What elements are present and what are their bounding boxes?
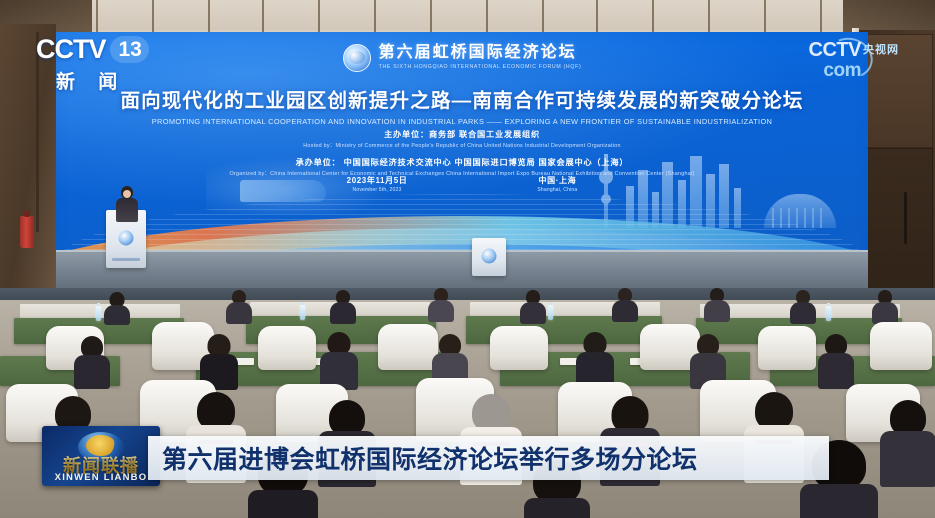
audience-person — [612, 288, 638, 318]
audience-person — [576, 332, 614, 386]
audience-person — [704, 288, 730, 318]
channel-number: 13 — [110, 36, 149, 63]
fire-extinguisher-icon — [20, 216, 34, 248]
headline-text: 第六届进博会虹桥国际经济论坛举行多场分论坛 — [162, 440, 698, 476]
audience-person — [226, 290, 252, 320]
audience-person — [330, 290, 356, 320]
cctv13-channel-logo: CCTV 13 新 闻 — [36, 36, 168, 88]
audience-person — [872, 290, 898, 320]
program-name-pinyin: XINWEN LIANBO — [42, 472, 160, 483]
cctv-wordmark: CCTV — [36, 36, 106, 63]
event-location-en: Shanghai, China — [537, 187, 577, 193]
forum-header: 第六届虹桥国际经济论坛 THE SIXTH HONGQIAO INTERNATI… — [56, 44, 868, 72]
audience-person — [104, 292, 130, 322]
chair — [490, 326, 548, 370]
chair — [758, 326, 816, 370]
host-label-cn: 主办单位：商务部 联合国工业发展组织 — [56, 128, 868, 140]
event-location-cn: 中国·上海 — [537, 175, 577, 186]
organizer-block: 主办单位：商务部 联合国工业发展组织 Hosted by：Ministry of… — [56, 128, 868, 177]
audience-person — [428, 288, 454, 318]
speaker-at-podium-icon — [116, 186, 138, 220]
forum-title-cn: 第六届虹桥国际经济论坛 — [379, 45, 582, 62]
event-date-en: November 5th, 2023 — [347, 187, 408, 193]
forum-title-en: THE SIXTH HONGQIAO INTERNATIONAL ECONOMI… — [379, 64, 582, 71]
wall-panel-seams — [0, 0, 935, 32]
event-meta: 2023年11月5日 November 5th, 2023 中国·上海 Shan… — [56, 175, 868, 193]
session-title: 面向现代化的工业园区创新提升之路—南南合作可持续发展的新突破分论坛 PROMOT… — [56, 84, 868, 126]
watermark-network: CCTV — [809, 40, 861, 60]
chair — [870, 322, 932, 370]
broadcast-frame: 第六届虹桥国际经济论坛 THE SIXTH HONGQIAO INTERNATI… — [0, 0, 935, 518]
audience-person — [74, 336, 110, 386]
session-title-en: PROMOTING INTERNATIONAL COOPERATION AND … — [56, 117, 868, 126]
podium-emblem-icon-center — [482, 249, 497, 264]
audience-person — [520, 290, 546, 320]
cctv-com-watermark: CCTV com 央视网 — [809, 40, 899, 80]
audience-person — [818, 334, 854, 386]
audience-person — [690, 334, 726, 386]
chair — [378, 324, 438, 370]
door-handle — [904, 192, 907, 244]
podium-emblem-icon — [119, 230, 134, 245]
xinwen-lianbo-logo: 新闻联播 XINWEN LIANBO — [42, 426, 160, 486]
globe-emblem-icon — [343, 44, 371, 72]
chair — [258, 326, 316, 370]
audience-person — [320, 332, 358, 386]
stage-led-screen: 第六届虹桥国际经济论坛 THE SIXTH HONGQIAO INTERNATI… — [56, 32, 868, 264]
podium-icon-center — [472, 238, 506, 276]
session-title-cn: 面向现代化的工业园区创新提升之路—南南合作可持续发展的新突破分论坛 — [56, 84, 868, 113]
event-date-cn: 2023年11月5日 — [347, 175, 408, 186]
host-label-en: Hosted by：Ministry of Commerce of the Pe… — [56, 141, 868, 149]
audience-person — [200, 334, 238, 386]
lower-third-banner: 新闻联播 XINWEN LIANBO 第六届进博会虹桥国际经济论坛举行多场分论坛 — [0, 426, 935, 518]
event-date: 2023年11月5日 November 5th, 2023 — [347, 175, 408, 193]
audience-person — [790, 290, 816, 320]
organizer-label-cn: 承办单位： 中国国际经济技术交流中心 中国国际进口博览局 国家会展中心（上海） — [56, 156, 868, 168]
channel-name-cn: 新 闻 — [56, 67, 168, 94]
headline-bar: 第六届进博会虹桥国际经济论坛举行多场分论坛 — [148, 436, 829, 480]
event-location: 中国·上海 Shanghai, China — [537, 175, 577, 193]
